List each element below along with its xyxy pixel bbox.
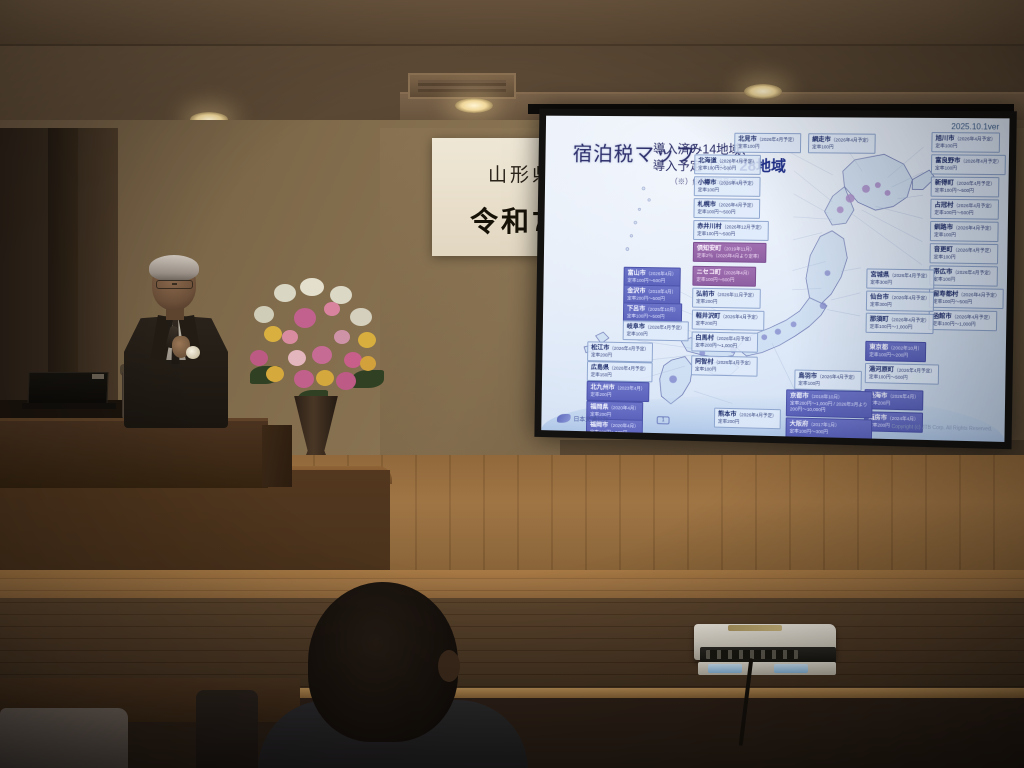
slide-logo: 日本交通公社 [557, 414, 609, 424]
presenter-boutonniere [186, 346, 200, 359]
presenter-hair [149, 255, 199, 281]
chip-amount: 定率100円～500円 [627, 277, 665, 283]
slide-surface: 2025.10.1ver 宿泊税マップ 導入済み14地域、 導入予定（※）28地… [541, 116, 1009, 442]
chip-status: （2026年4月予定） [953, 225, 994, 231]
chip-status: （2026年4月予定） [757, 137, 797, 142]
chip-achi: 阿智村（2026年4月予定） 定率100円 [691, 355, 758, 377]
ceiling-soffit [0, 0, 1024, 46]
chip-name: 下呂市 [627, 305, 645, 312]
chip-amount: 定率200円 [591, 352, 612, 357]
flower-white [300, 278, 324, 296]
chair-foreground-left [0, 708, 128, 768]
chip-amount: 定率100円 [798, 380, 820, 385]
chip-name: 軽井沢町 [696, 313, 721, 320]
conference-hall-photo: 山形県 令和7 [0, 0, 1024, 768]
chip-amount: 定率100円 [935, 165, 957, 170]
chip-status: （2026年4月予定） [952, 270, 993, 276]
chip-amount: 定率200円 [718, 418, 739, 424]
flower-yellow [360, 356, 376, 371]
chip-otofuke: 音更町（2026年4月予定） 定率100円 [930, 243, 999, 264]
chip-status: （2026年4月予定） [889, 273, 930, 279]
chip-name: 那須町 [870, 316, 889, 323]
chip-name: 阿智村 [695, 358, 713, 365]
projector [694, 620, 842, 682]
chip-status: （2002年10月） [888, 345, 922, 351]
podium-side-panel [262, 425, 292, 487]
projection-screen: 2025.10.1ver 宿泊税マップ 導入済み14地域、 導入予定（※）28地… [534, 109, 1017, 450]
chip-name: 金沢市 [627, 288, 645, 295]
chip-name: 弘前市 [696, 291, 714, 298]
chip-amount: 定率200円～500円 [627, 295, 665, 301]
chip-name: 占冠村 [934, 202, 953, 209]
chip-karuizawa: 軽井沢町（2026年4月予定） 定率200円 [692, 310, 765, 332]
chip-status: （2026年4月予定） [720, 314, 760, 320]
chip-amount: 定率100円 [698, 187, 719, 192]
chip-tokyo: 東京都（2002年10月） 定率100円～200円 [865, 341, 926, 363]
chip-otaru: 小樽市（2026年4月予定） 定率100円 [694, 176, 761, 197]
chip-hakuba: 白馬村（2026年4月予定） 定率200円～1,000円 [691, 331, 758, 353]
audience-head [308, 582, 458, 742]
chip-amount: 定率100円 [935, 143, 957, 148]
chip-status: （2026年4月予定） [953, 203, 994, 209]
downlight-right-icon [744, 84, 782, 99]
flower-pink [282, 330, 298, 344]
flower-pale-pink [288, 350, 306, 366]
chip-status: （2026年11月予定） [715, 292, 757, 298]
ceiling-air-vent [408, 73, 516, 99]
chip-osaka: 大阪府（2017年1月） 定率100円～300円 [785, 417, 872, 439]
chip-status: （2026年4月予定） [645, 325, 685, 331]
flower-pink [324, 302, 340, 316]
chip-amount: 定率100円～500円 [627, 313, 665, 319]
chip-status: （2026年4月予定） [894, 368, 935, 374]
chip-status: （2019年11月） [721, 246, 754, 251]
audience-ear [438, 650, 460, 682]
flower-pink [312, 346, 332, 364]
chip-status: （2020年4月） [608, 405, 639, 411]
logo-mark-icon [557, 414, 571, 423]
chip-obihiro: 帯広市（2026年4月予定） 定率100円 [929, 265, 998, 287]
chip-name: 旭川市 [935, 135, 954, 142]
chip-status: （2026年4月予定） [716, 180, 756, 185]
chip-miyagi: 宮城県（2026年4月予定） 定率300円 [866, 268, 934, 289]
podium [0, 418, 268, 488]
chip-status: （2026年4月予定） [954, 181, 995, 186]
chip-name: 新得町 [935, 180, 954, 187]
chip-rusutsu: 留寿都村（2026年4月予定） 定率100円～500円 [929, 288, 1004, 310]
chip-name: 札幌市 [698, 201, 716, 208]
chip-name: 岐阜市 [627, 323, 645, 330]
chip-name: 福岡県 [590, 404, 608, 411]
flower-pink [336, 372, 356, 390]
chip-status: （2026年4月予定） [714, 336, 754, 342]
chip-gifu: 岐阜市（2026年4月予定） 定率100円 [623, 320, 689, 341]
projector-label-strip [728, 625, 782, 631]
chip-status: （2026年4月） [887, 394, 919, 400]
flower-yellow [264, 326, 282, 342]
chip-amount: 定率100円 [695, 366, 716, 371]
chip-amount: 定率100円～1,000円 [933, 321, 976, 327]
chip-name: 白馬村 [695, 335, 713, 342]
chip-status: （2017年1月） [808, 422, 839, 428]
chip-status: （2026年4月予定） [609, 346, 649, 352]
chip-akaigawa: 赤井川村（2026年12月予定） 定率100円～500円 [693, 220, 768, 241]
chip-name: 北海道 [698, 157, 716, 164]
flower-white [350, 308, 372, 326]
chip-amount: 定率200円～1,000円 [695, 342, 737, 348]
chip-name: 京都市 [790, 392, 809, 399]
chip-status: （2026年12月予定） [722, 224, 765, 230]
flower-white [254, 306, 274, 323]
chip-hiroshima: 広島県（2026年4月予定） 定率150円 [587, 361, 653, 382]
flower-yellow [266, 366, 284, 382]
chip-status: （2026年4月予定） [736, 412, 776, 418]
presenter-glasses-icon [156, 280, 193, 289]
flower-yellow [316, 370, 334, 386]
chip-amount: 定率100円 [934, 254, 956, 259]
chip-amount: 定率2％（2026年4月より定率） [697, 253, 762, 259]
chip-shimukappu: 占冠村（2026年4月予定） 定率100円～500円 [930, 199, 999, 220]
chip-abashiri: 網走市（2026年4月予定） 定率100円 [808, 133, 876, 154]
chip-toba: 鳥羽市（2026年4月予定） 定率100円 [794, 369, 862, 391]
chip-hokkaido: 北海道（2026年4月予定） 定率100円～500円 [694, 154, 761, 175]
chip-amount: 定率100円 [933, 276, 955, 281]
chip-status: （2020年4月） [608, 423, 639, 429]
projector-vent-left-icon [708, 664, 742, 673]
chip-status: （2026年4月予定） [831, 137, 872, 142]
chip-kumamoto: 熊本市（2026年4月予定） 定率200円 [714, 408, 781, 430]
chip-name: 北九州市 [591, 384, 615, 391]
chip-name: 仙台市 [870, 294, 889, 301]
chip-status: （2026年4月予定） [716, 202, 756, 207]
chip-atami: 熱海市（2026年4月） 定率200円 [864, 389, 923, 411]
chip-name: 宮城県 [870, 272, 889, 279]
presenter [110, 258, 230, 428]
chip-name: 湯河原町 [869, 366, 894, 374]
slide-version-label: 2025.10.1ver [951, 122, 999, 131]
chip-name: 函館市 [933, 313, 952, 320]
foliage [352, 370, 384, 388]
chip-amount: 定率100円～500円 [697, 209, 735, 214]
chip-status: （2026年4月予定） [952, 314, 993, 320]
chip-status: （2026年4月予定） [817, 374, 858, 380]
chip-name: 赤井川村 [697, 223, 722, 230]
chip-matsue: 松江市（2026年4月予定） 定率200円 [587, 341, 653, 362]
flower-yellow [358, 332, 376, 348]
chip-kitami: 北見市（2026年4月予定） 定率100円 [734, 133, 801, 154]
chip-name: 富良野市 [935, 157, 960, 164]
laptop-base [22, 403, 116, 409]
chip-kyoto: 京都市（2018年10月） 定率200円～1,000円 / 2026年3月より2… [786, 389, 873, 418]
chip-amount: 定率100円 [627, 331, 648, 336]
chip-niseko: ニセコ町（2026年4月） 定率100円～500円 [692, 266, 756, 287]
chip-amount: 定率300円 [870, 301, 892, 306]
chip-amount: 定率200円 [696, 298, 717, 303]
chip-status: （2025年10月） [645, 307, 678, 313]
chip-asahikawa: 旭川市（2026年4月予定） 定率100円 [931, 132, 1000, 153]
chip-sapporo: 札幌市（2026年4月予定） 定率100円～500円 [693, 198, 760, 219]
chip-amount: 定率150円 [591, 372, 612, 377]
chip-name: 小樽市 [698, 179, 716, 186]
chip-status: （2024年4月） [887, 416, 919, 422]
chip-status: （2026年4月予定） [960, 159, 1001, 164]
chip-amount: 定率100円 [738, 143, 759, 148]
chip-name: 熊本市 [718, 411, 737, 418]
chip-amount: 定率100円～500円 [869, 374, 908, 380]
chip-status: （2026年4月予定） [889, 295, 930, 301]
chip-status: （2026年4月予定） [958, 292, 999, 298]
chip-kutchan: 倶知安町（2019年11月） 定率2％（2026年4月より定率） [693, 242, 767, 263]
flower-pink [294, 308, 316, 328]
chip-status: （2023年4月） [615, 385, 646, 391]
chip-name: 釧路市 [934, 224, 953, 231]
chip-status: （2026年4月予定） [713, 360, 753, 366]
chip-name: 富山市 [628, 270, 646, 277]
chip-shintoku: 新得町（2026年4月予定） 定率100円～500円 [931, 176, 1000, 197]
flower-white [274, 284, 296, 302]
chip-amount: 定率100円～500円 [696, 277, 734, 283]
chip-furano: 富良野市（2026年4月予定） 定率100円 [931, 154, 1006, 175]
projector-vent-right-icon [774, 664, 808, 673]
chip-status: （2026年4月予定） [717, 159, 757, 164]
laptop-screen-glint [92, 374, 104, 379]
chip-amount: 定率200円 [696, 320, 717, 325]
chip-sendai: 仙台市（2026年4月予定） 定率300円 [866, 291, 934, 313]
chip-amount: 定率100円～500円 [933, 298, 972, 304]
downlight-center-icon [455, 98, 493, 113]
chip-hakodate: 函館市（2026年4月予定） 定率100円～1,000円 [928, 310, 997, 332]
chip-name: 広島県 [591, 364, 609, 371]
chip-amount: 定率200円～1,000円 / 2026年3月より200円～10,000円 [790, 400, 868, 412]
chip-name: 鳥羽市 [798, 373, 817, 380]
chair-foreground-mid [196, 690, 258, 768]
chip-status: （2026年4月予定） [889, 317, 930, 323]
slide-page-badge: 1 [657, 416, 670, 424]
slide-logo-text: 日本交通公社 [573, 414, 608, 424]
chip-amount: 定率100円 [934, 232, 956, 237]
chip-name: 網走市 [812, 136, 831, 143]
chip-name: 倶知安町 [697, 245, 722, 252]
chip-amount: 定率100円～200円 [869, 352, 908, 358]
chip-name: ニセコ町 [696, 269, 721, 276]
chip-name: 大阪府 [790, 420, 809, 427]
chip-status: （2026年4月予定） [954, 136, 995, 141]
chip-yugawara: 湯河原町（2026年4月予定） 定率100円～500円 [865, 363, 939, 385]
chip-kitakyushu: 北九州市（2023年4月） 定率200円 [586, 381, 649, 402]
chip-hirosaki: 弘前市（2026年11月予定） 定率200円 [692, 288, 761, 309]
chip-name: 松江市 [591, 344, 609, 351]
chip-name: 音更町 [934, 246, 953, 253]
chip-status: （2026年4月予定） [609, 366, 649, 372]
chip-name: 帯広市 [933, 268, 952, 275]
flower-pink [294, 370, 314, 388]
chip-amount: 定率200円～500円 [590, 429, 628, 435]
chip-kushiro: 釧路市（2026年4月予定） 定率100円 [930, 221, 999, 242]
chip-status: （2026年4月） [721, 270, 752, 275]
chip-status: （2019年4月） [645, 289, 676, 294]
chip-name: 北見市 [738, 136, 757, 143]
chip-amount: 定率200円 [590, 392, 611, 397]
chip-amount: 定率100円～300円 [790, 428, 829, 434]
chip-amount: 定率100円～500円 [698, 165, 736, 170]
chip-amount: 定率100円～500円 [935, 187, 974, 192]
chip-nasu: 那須町（2026年4月予定） 定率100円～1,000円 [866, 313, 934, 335]
flower-pink [250, 350, 268, 366]
flower-pink [344, 352, 362, 368]
chip-amount: 定率100円～500円 [934, 210, 973, 216]
chip-name: 留寿都村 [933, 291, 958, 298]
chip-name: 東京都 [869, 344, 888, 351]
chip-status: （2018年10月） [809, 394, 843, 400]
flower-pink [334, 330, 350, 344]
chip-amount: 定率300円 [870, 279, 892, 284]
chip-amount: 定率100円～1,000円 [870, 324, 913, 330]
chip-amount: 定率100円～500円 [697, 231, 735, 236]
chip-amount: 定率100円 [812, 144, 834, 149]
chip-status: （2026年4月） [646, 271, 677, 276]
chip-status: （2026年4月予定） [953, 247, 994, 253]
